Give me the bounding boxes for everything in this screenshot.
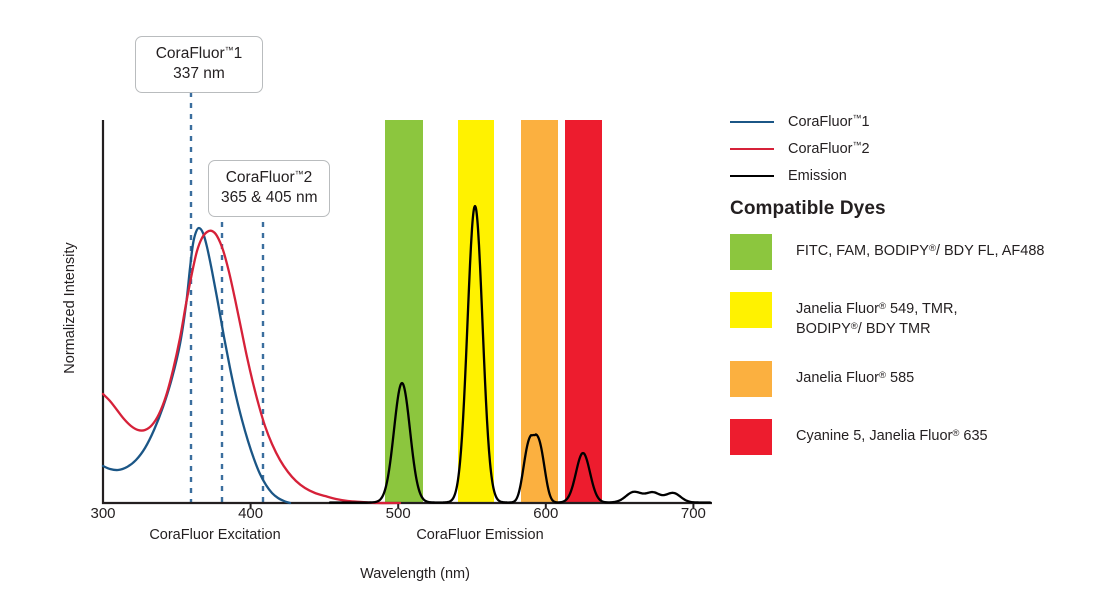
legend-item-label: Emission bbox=[788, 168, 847, 184]
callout1-line2: 337 nm bbox=[148, 64, 250, 84]
region-label-excitation: CoraFluor Excitation bbox=[115, 527, 315, 543]
callout-corafluor1: CoraFluor™1 337 nm bbox=[135, 36, 263, 93]
dye-color-swatch bbox=[730, 419, 772, 455]
dye-window-band bbox=[565, 120, 602, 503]
x-tick-label: 700 bbox=[663, 505, 723, 522]
legend-line-swatch bbox=[730, 148, 774, 150]
y-axis-title: Normalized Intensity bbox=[62, 208, 78, 408]
curve-corafluor2 bbox=[103, 231, 400, 503]
region-label-emission: CoraFluor Emission bbox=[380, 527, 580, 543]
dye-color-swatch bbox=[730, 361, 772, 397]
spectra-figure: CoraFluor™1 337 nm CoraFluor™2 365 & 405… bbox=[0, 0, 1110, 612]
legend-item-2: CoraFluor™2 bbox=[730, 135, 1090, 162]
series-legend: CoraFluor™1CoraFluor™2Emission bbox=[730, 108, 1090, 189]
dye-color-swatch bbox=[730, 234, 772, 270]
excitation-marker-lines bbox=[191, 92, 263, 503]
callout-corafluor2: CoraFluor™2 365 & 405 nm bbox=[208, 160, 330, 217]
dye-row-1: FITC, FAM, BODIPY®/ BDY FL, AF488 bbox=[730, 234, 1100, 270]
legend-line-swatch bbox=[730, 121, 774, 123]
x-tick-label: 600 bbox=[516, 505, 576, 522]
legend-item-3: Emission bbox=[730, 162, 1090, 189]
compatible-dyes-heading: Compatible Dyes bbox=[730, 198, 886, 220]
dye-label: Janelia Fluor® 549, TMR,BODIPY®/ BDY TMR bbox=[796, 292, 957, 339]
dye-row-2: Janelia Fluor® 549, TMR,BODIPY®/ BDY TMR bbox=[730, 292, 1100, 339]
compatible-dyes-list: FITC, FAM, BODIPY®/ BDY FL, AF488Janelia… bbox=[730, 234, 1100, 477]
dye-label: Janelia Fluor® 585 bbox=[796, 361, 914, 388]
x-tick-label: 400 bbox=[221, 505, 281, 522]
callout2-line1: CoraFluor™2 bbox=[226, 169, 313, 186]
x-tick-label: 500 bbox=[368, 505, 428, 522]
dye-window-bands bbox=[385, 120, 602, 503]
x-axis-title: Wavelength (nm) bbox=[295, 566, 535, 582]
dye-row-4: Cyanine 5, Janelia Fluor® 635 bbox=[730, 419, 1100, 455]
dye-label: FITC, FAM, BODIPY®/ BDY FL, AF488 bbox=[796, 234, 1044, 261]
legend-item-1: CoraFluor™1 bbox=[730, 108, 1090, 135]
dye-window-band bbox=[385, 120, 423, 503]
x-tick-label: 300 bbox=[73, 505, 133, 522]
legend-line-swatch bbox=[730, 175, 774, 177]
dye-color-swatch bbox=[730, 292, 772, 328]
dye-row-3: Janelia Fluor® 585 bbox=[730, 361, 1100, 397]
legend-item-label: CoraFluor™1 bbox=[788, 113, 870, 130]
dye-label: Cyanine 5, Janelia Fluor® 635 bbox=[796, 419, 988, 446]
callout1-line1: CoraFluor™1 bbox=[156, 45, 243, 62]
legend-item-label: CoraFluor™2 bbox=[788, 140, 870, 157]
callout2-line2: 365 & 405 nm bbox=[221, 188, 317, 208]
